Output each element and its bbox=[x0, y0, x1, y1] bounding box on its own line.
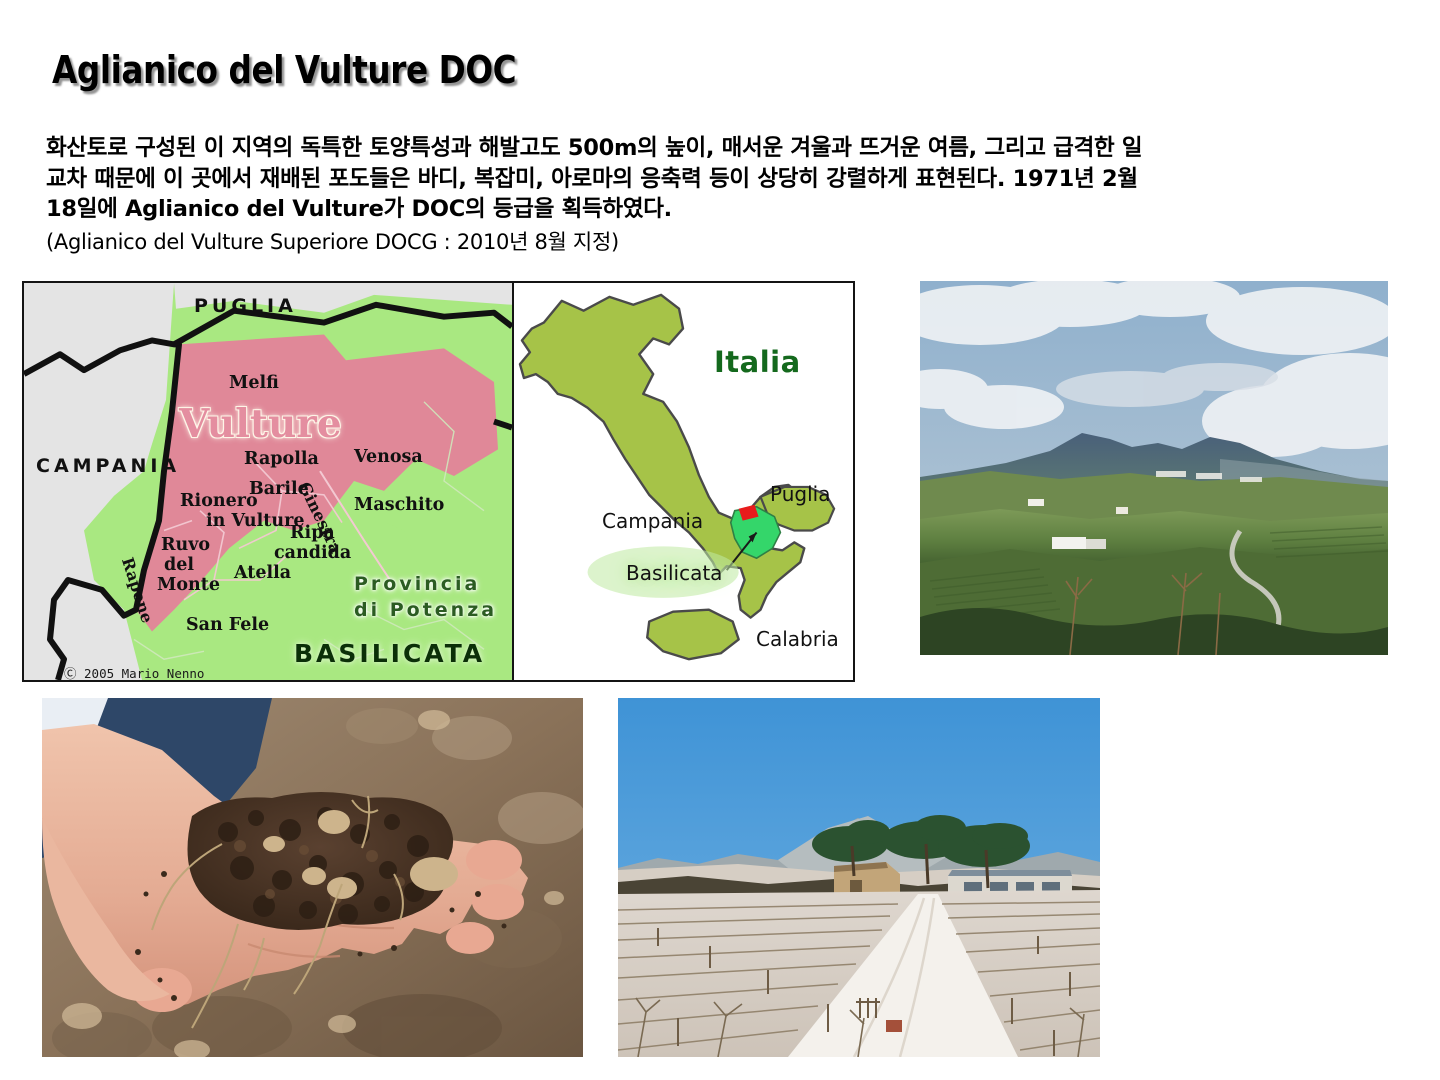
map-credit: Ⓒ 2005 Mario Nenno bbox=[64, 663, 204, 680]
body-line-1: 화산토로 구성된 이 지역의 독특한 토양특성과 해발고도 500m의 높이, … bbox=[46, 133, 1391, 164]
map-panel: PUGLIA CAMPANIA Melfi Vulture Rapolla Ve… bbox=[22, 281, 855, 682]
map-label-ruvo: Ruvo bbox=[161, 535, 210, 555]
body-line-2: 교차 때문에 이 곳에서 재배된 포도들은 바디, 복잡미, 아로마의 응축력 … bbox=[46, 164, 1391, 195]
map-label-campania: CAMPANIA bbox=[36, 455, 180, 477]
photo-snowy-winter-vineyard bbox=[618, 698, 1100, 1057]
snow-photo-graphic bbox=[618, 698, 1100, 1057]
map-label-vulture-zone: Vulture bbox=[179, 401, 342, 447]
map-label-venosa: Venosa bbox=[354, 447, 423, 467]
map-label-maschito: Maschito bbox=[354, 495, 444, 515]
map-label-del: del bbox=[164, 555, 194, 575]
map-label-san-fele: San Fele bbox=[186, 615, 269, 635]
body-line-3: 18일에 Aglianico del Vulture가 DOC의 등급을 획득하… bbox=[46, 194, 1391, 225]
map-label-monte: Monte bbox=[157, 575, 220, 595]
italy-label-puglia: Puglia bbox=[770, 482, 830, 506]
italy-label-basilicata: Basilicata bbox=[626, 561, 722, 585]
italy-label-calabria: Calabria bbox=[756, 627, 839, 651]
italy-locator-map: Italia Puglia Campania Basilicata Calabr… bbox=[512, 283, 853, 680]
map-label-provincia-di-potenza: di Potenza bbox=[354, 599, 497, 621]
photo-mount-vulture-landscape bbox=[920, 281, 1388, 655]
map-label-puglia: PUGLIA bbox=[194, 295, 297, 317]
body-paragraph: 화산토로 구성된 이 지역의 독특한 토양특성과 해발고도 500m의 높이, … bbox=[46, 133, 1391, 257]
landscape-photo-graphic bbox=[920, 281, 1388, 655]
map-label-melfi: Melfi bbox=[229, 373, 279, 393]
map-label-provincia: Provincia bbox=[354, 573, 480, 595]
italy-map-title: Italia bbox=[714, 345, 801, 379]
map-label-atella: Atella bbox=[234, 563, 291, 583]
photo-volcanic-soil-in-hand bbox=[42, 698, 583, 1057]
map-label-rapolla: Rapolla bbox=[244, 449, 319, 469]
italy-label-campania: Campania bbox=[602, 509, 703, 533]
body-note: (Aglianico del Vulture Superiore DOCG : … bbox=[46, 227, 1391, 258]
map-label-basilicata: BASILICATA bbox=[294, 639, 485, 668]
page-title: Aglianico del Vulture DOC bbox=[52, 48, 516, 92]
vulture-regional-map: PUGLIA CAMPANIA Melfi Vulture Rapolla Ve… bbox=[24, 283, 512, 680]
soil-photo-graphic bbox=[42, 698, 583, 1057]
map-label-rionero: Rionero bbox=[180, 491, 258, 511]
